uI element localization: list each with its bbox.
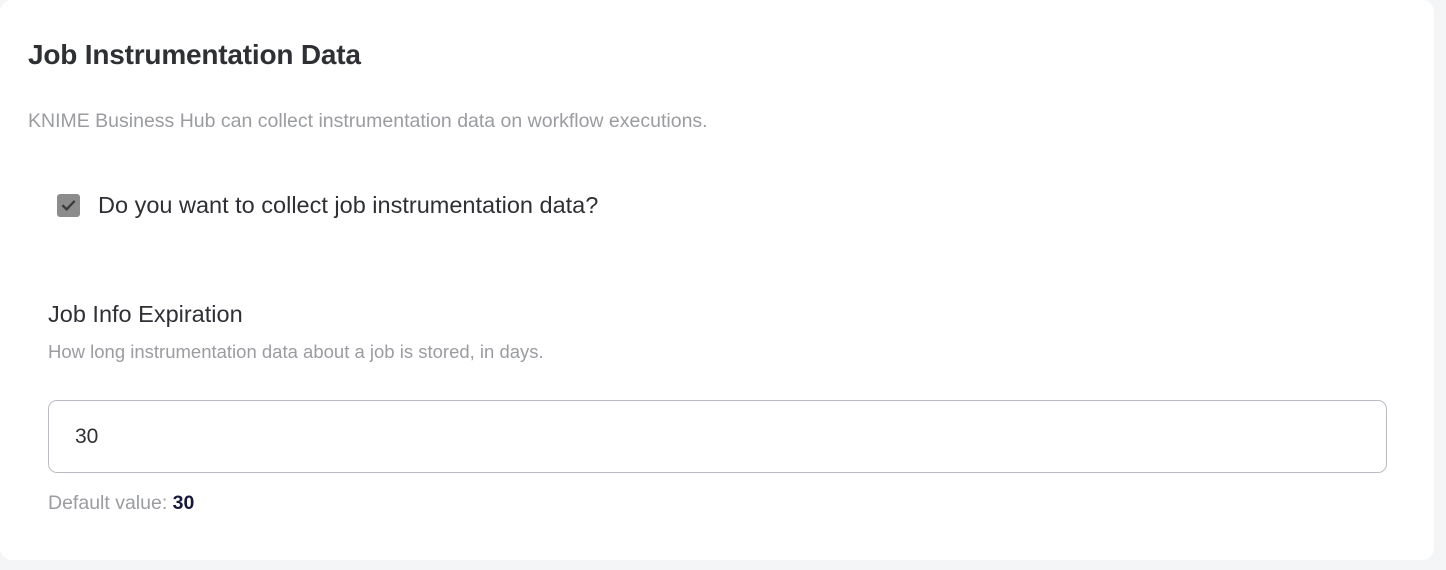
settings-card: Job Instrumentation Data KNIME Business … <box>0 0 1434 560</box>
default-value-label: Default value: <box>48 492 173 514</box>
expiration-field-description: How long instrumentation data about a jo… <box>48 341 544 363</box>
checkbox-input[interactable] <box>57 194 80 217</box>
page-description: KNIME Business Hub can collect instrumen… <box>28 110 708 133</box>
checkbox-label: Do you want to collect job instrumentati… <box>98 194 598 218</box>
page-title: Job Instrumentation Data <box>28 39 361 71</box>
job-info-expiration-input[interactable] <box>48 400 1387 473</box>
default-value-number: 30 <box>173 492 195 514</box>
collect-instrumentation-checkbox-row[interactable]: Do you want to collect job instrumentati… <box>57 194 598 218</box>
expiration-field-heading: Job Info Expiration <box>48 301 243 328</box>
default-value-hint: Default value: 30 <box>48 492 194 515</box>
checkmark-icon <box>60 197 77 214</box>
